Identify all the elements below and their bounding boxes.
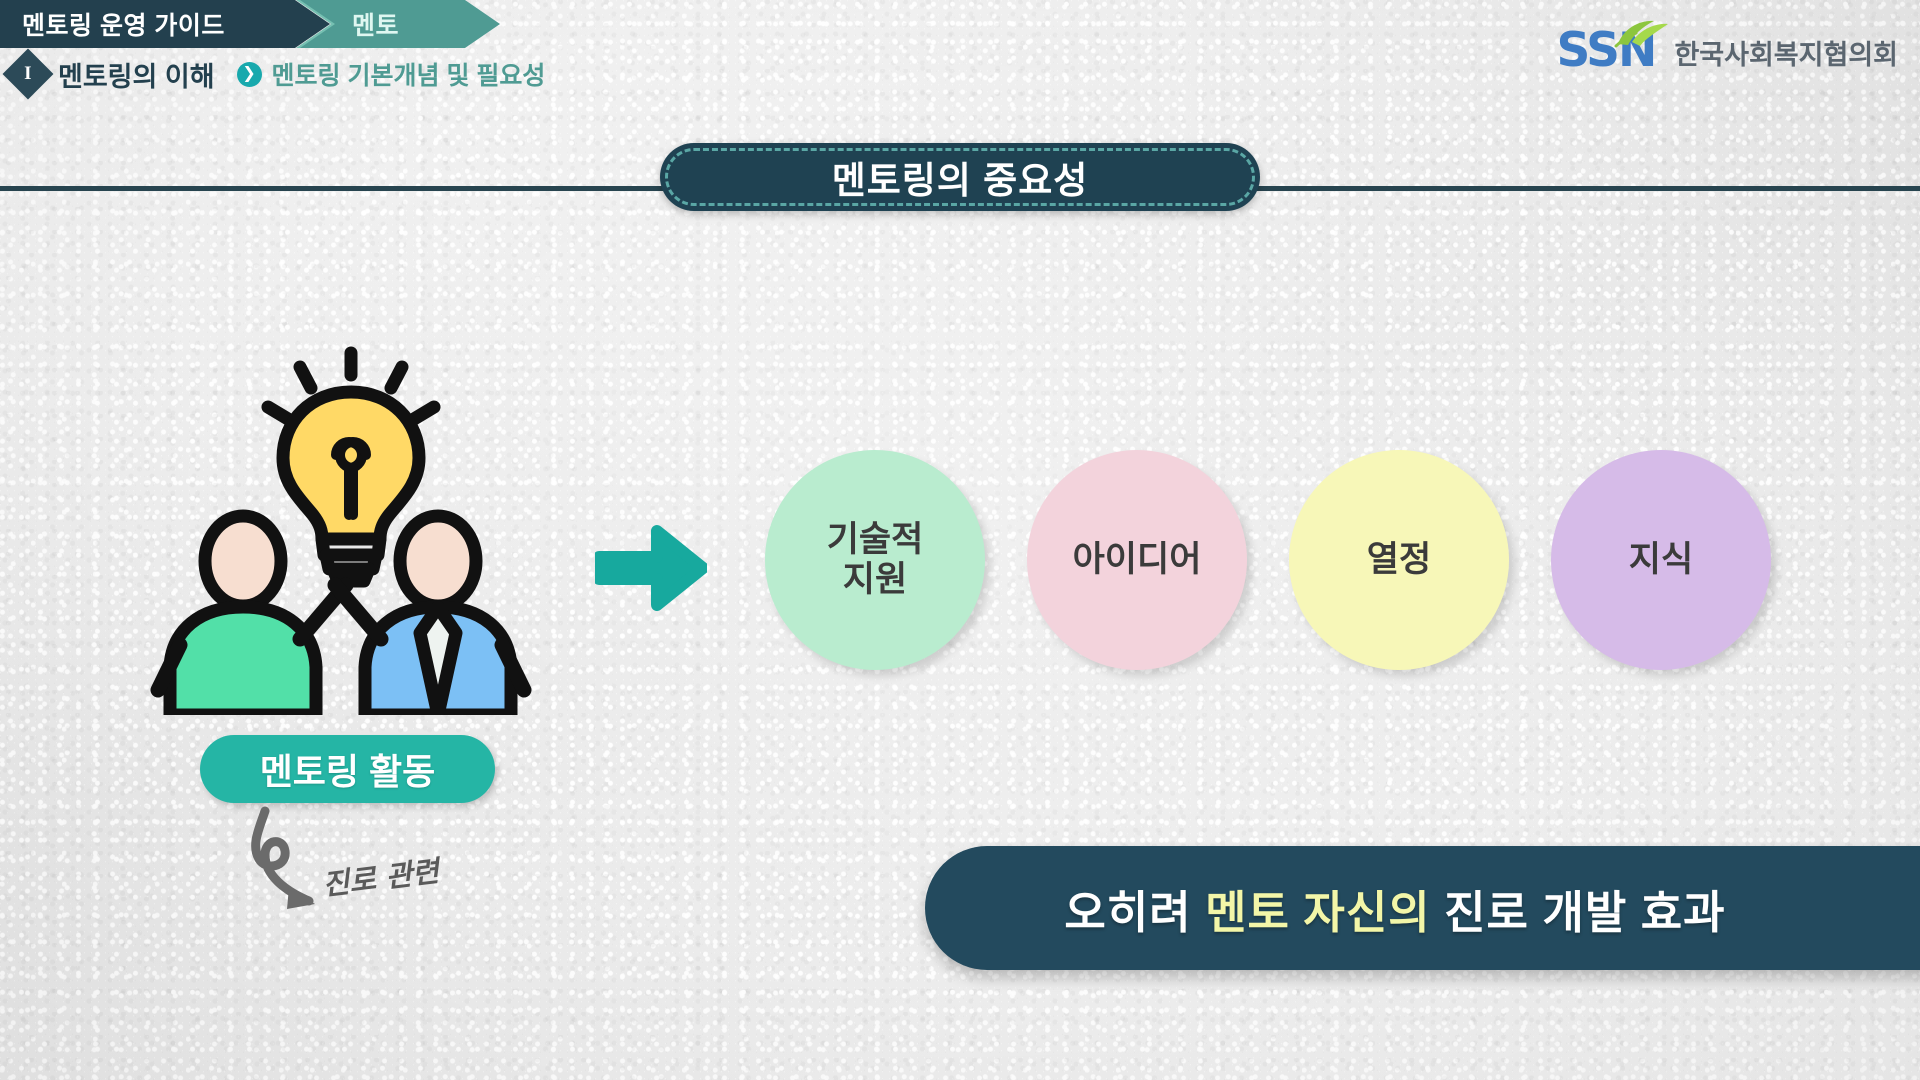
page-title: 멘토링의 중요성 [832, 150, 1089, 204]
circle-idea: 아이디어 [1027, 450, 1247, 670]
tab-primary-label: 멘토링 운영 가이드 [22, 6, 225, 42]
circle-passion: 열정 [1289, 450, 1509, 670]
circle-label: 아이디어 [1073, 540, 1202, 580]
tab-secondary-label: 멘토 [352, 6, 399, 42]
arrow-right-icon [595, 525, 707, 616]
chapter-numeral: I [24, 63, 31, 85]
breadcrumb-main-label: 멘토링의 이해 [58, 55, 215, 94]
mentoring-activity-pill: 멘토링 활동 [200, 735, 495, 803]
ssn-logo-mark: SSN [1556, 22, 1668, 74]
chapter-numeral-diamond-icon: I [3, 49, 54, 100]
circle-label: 열정 [1367, 540, 1431, 580]
chevron-right-circle-icon: ❯ [237, 62, 262, 87]
breadcrumb: I 멘토링의 이해 ❯ 멘토링 기본개념 및 필요성 [10, 52, 545, 96]
slide-canvas: 멘토링 운영 가이드 멘토 I 멘토링의 이해 ❯ 멘토링 기본개념 및 필요성… [0, 0, 1920, 1080]
leaf-icon [1614, 18, 1670, 48]
ssn-logo-organization: 한국사회복지협의회 [1674, 33, 1898, 74]
conclusion-text: 오히려 멘토 자신의 진로 개발 효과 [1064, 876, 1725, 941]
breadcrumb-sub-label: 멘토링 기본개념 및 필요성 [272, 56, 546, 92]
conclusion-prefix: 오히려 [1064, 887, 1205, 938]
conclusion-suffix: 진로 개발 효과 [1431, 887, 1726, 938]
circle-label: 지식 [1629, 540, 1693, 580]
ssn-logo: SSN 한국사회복지협의회 [1556, 22, 1898, 74]
circle-knowledge: 지식 [1551, 450, 1771, 670]
circle-label: 기술적 지원 [827, 520, 924, 601]
tab-mentoring-guide[interactable]: 멘토링 운영 가이드 [0, 0, 330, 48]
conclusion-banner: 오히려 멘토 자신의 진로 개발 효과 [925, 846, 1920, 970]
tab-mento[interactable]: 멘토 [300, 0, 500, 48]
two-people-with-lightbulb-illustration [150, 345, 540, 715]
circle-technical-support: 기술적 지원 [765, 450, 985, 670]
slide-title-pill: 멘토링의 중요성 [660, 143, 1260, 211]
mentoring-activity-label: 멘토링 활동 [260, 743, 436, 795]
concept-circle-group: 기술적 지원 아이디어 열정 지식 [765, 450, 1771, 670]
conclusion-highlight: 멘토 자신의 [1205, 887, 1431, 938]
